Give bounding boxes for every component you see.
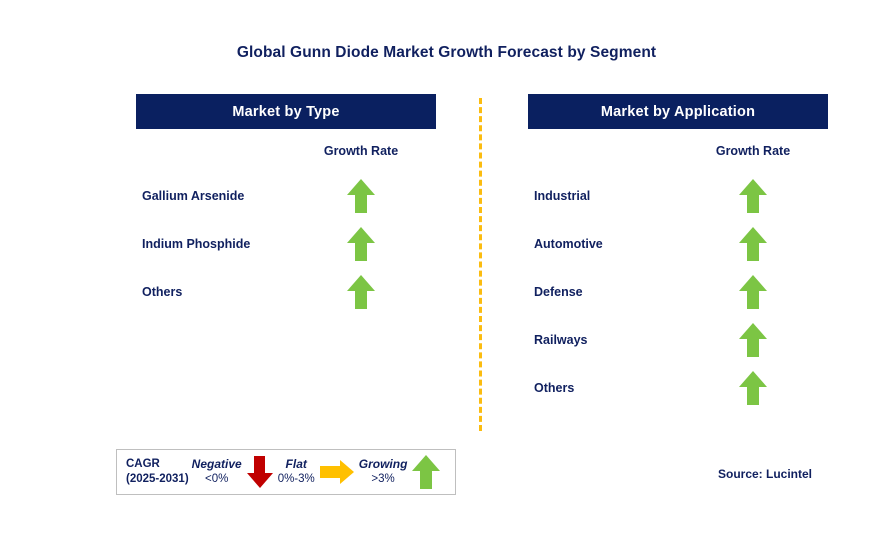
table-row: Automotive (528, 220, 828, 268)
row-label: Indium Phosphide (136, 237, 250, 251)
legend-cagr: CAGR (2025-2031) (117, 457, 189, 487)
growth-indicator (678, 323, 828, 357)
legend-icon-negative (245, 456, 275, 488)
arrow-up-icon (739, 323, 767, 357)
row-label: Others (136, 285, 182, 299)
arrow-up-icon (739, 179, 767, 213)
table-row: Others (136, 268, 436, 316)
arrow-up-icon (347, 275, 375, 309)
table-row: Indium Phosphide (136, 220, 436, 268)
rows-market-by-type: Gallium Arsenide Indium Phosphide Others (136, 172, 436, 316)
table-row: Defense (528, 268, 828, 316)
arrow-up-icon (347, 227, 375, 261)
row-label: Industrial (528, 189, 590, 203)
legend-icon-growing (410, 455, 442, 489)
arrow-right-icon (320, 460, 354, 484)
legend-box: CAGR (2025-2031) Negative <0% Flat 0%-3%… (116, 449, 456, 495)
panel-market-by-application: Market by Application Growth Rate Indust… (528, 94, 828, 129)
growth-rate-label-right: Growth Rate (678, 144, 828, 158)
legend-item-negative-label: Negative (192, 457, 242, 472)
legend-item-flat-text: Flat 0%-3% (275, 457, 318, 487)
growth-indicator (678, 275, 828, 309)
arrow-down-icon (247, 456, 273, 488)
growth-indicator (678, 371, 828, 405)
legend-item-flat: Flat 0%-3% (275, 457, 356, 487)
legend-item-growing-range: >3% (359, 472, 408, 487)
legend-item-negative-range: <0% (192, 472, 242, 487)
legend-item-flat-label: Flat (278, 457, 315, 472)
legend-cagr-title: CAGR (126, 458, 160, 470)
growth-rate-label-left: Growth Rate (286, 144, 436, 158)
legend-cagr-period: (2025-2031) (126, 473, 189, 485)
legend-item-negative: Negative <0% (189, 456, 275, 488)
legend-item-growing: Growing >3% (356, 455, 443, 489)
arrow-up-icon (739, 275, 767, 309)
legend-item-growing-text: Growing >3% (356, 457, 411, 487)
table-row: Railways (528, 316, 828, 364)
legend-item-growing-label: Growing (359, 457, 408, 472)
row-label: Railways (528, 333, 588, 347)
arrow-up-icon (739, 371, 767, 405)
source-attribution: Source: Lucintel (718, 467, 812, 481)
legend-item-negative-text: Negative <0% (189, 457, 245, 487)
panel-market-by-type: Market by Type Growth Rate Gallium Arsen… (136, 94, 436, 129)
rows-market-by-application: Industrial Automotive Defense Railways O (528, 172, 828, 412)
arrow-up-icon (739, 227, 767, 261)
row-label: Automotive (528, 237, 603, 251)
growth-indicator (286, 275, 436, 309)
growth-indicator (286, 179, 436, 213)
arrow-up-icon (347, 179, 375, 213)
arrow-up-icon (412, 455, 440, 489)
table-row: Industrial (528, 172, 828, 220)
panel-header-market-by-type: Market by Type (136, 94, 436, 129)
row-label: Gallium Arsenide (136, 189, 244, 203)
panel-header-market-by-application: Market by Application (528, 94, 828, 129)
table-row: Gallium Arsenide (136, 172, 436, 220)
row-label: Others (528, 381, 574, 395)
row-label: Defense (528, 285, 583, 299)
vertical-dashed-divider (479, 98, 482, 431)
growth-indicator (678, 227, 828, 261)
table-row: Others (528, 364, 828, 412)
page-title: Global Gunn Diode Market Growth Forecast… (0, 44, 893, 62)
growth-indicator (678, 179, 828, 213)
legend-icon-flat (318, 460, 356, 484)
growth-indicator (286, 227, 436, 261)
legend-item-flat-range: 0%-3% (278, 472, 315, 487)
